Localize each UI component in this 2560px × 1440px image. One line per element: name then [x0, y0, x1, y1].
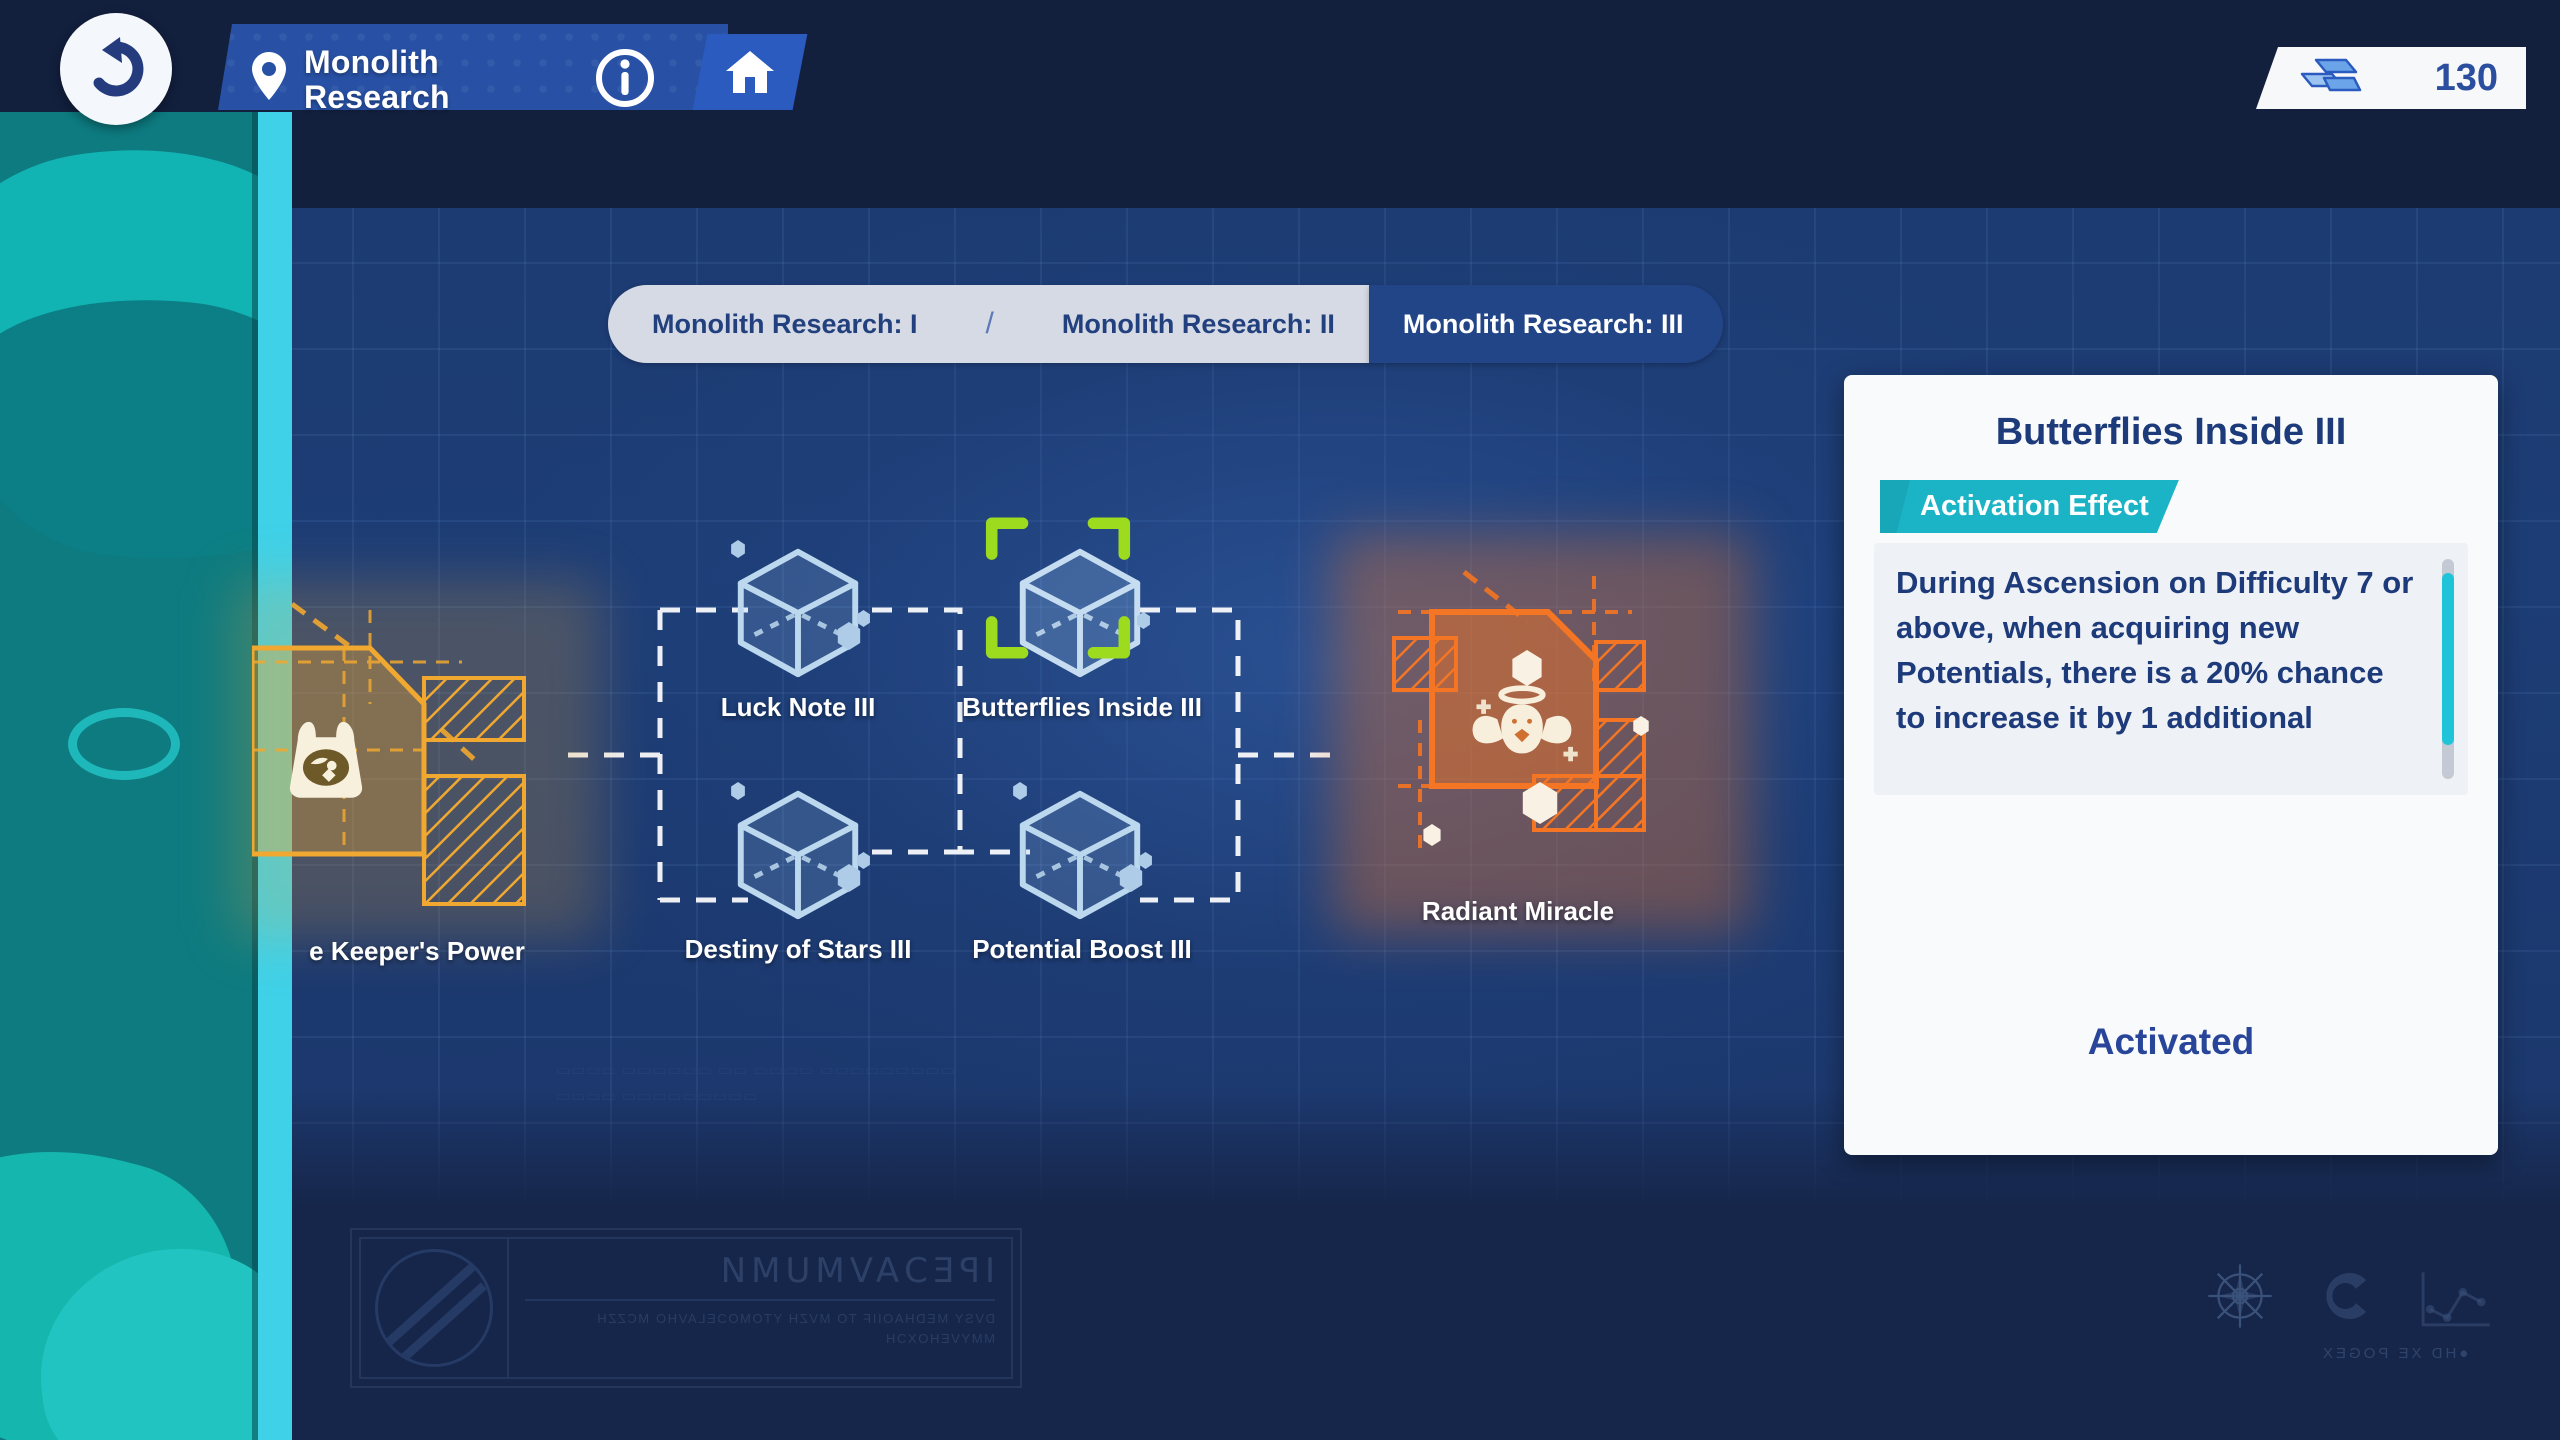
cube-icon: [724, 536, 872, 684]
cube-icon: [1006, 778, 1154, 926]
node-label-keepers-power: e Keeper's Power: [309, 936, 525, 967]
node-label-radiant-miracle: Radiant Miracle: [1422, 896, 1614, 927]
back-button[interactable]: [60, 13, 172, 125]
map-pin-icon: [252, 52, 286, 100]
ingot-bars-icon: [2300, 56, 2362, 100]
node-label-destiny-of-stars-3: Destiny of Stars III: [685, 934, 912, 965]
info-circle-icon[interactable]: [594, 47, 656, 109]
tab-monolith-research-1[interactable]: Monolith Research: I: [618, 285, 952, 363]
node-label-butterflies-inside-3: Butterflies Inside III: [962, 692, 1202, 723]
node-potential-boost-3[interactable]: Potential Boost III: [1006, 778, 1154, 926]
winged-angel-icon: [1464, 674, 1580, 778]
page-title-line2: Research: [304, 80, 450, 115]
node-destiny-of-stars-3[interactable]: Destiny of Stars III: [724, 778, 872, 926]
tab-group-inactive: Monolith Research: I / Monolith Research…: [608, 285, 1369, 363]
page-title-line1: Monolith: [304, 45, 450, 80]
back-arrow-icon: [80, 33, 152, 105]
cube-icon: [1006, 536, 1154, 684]
satchel-bag-icon: [278, 708, 374, 804]
status-badge: Activated: [1844, 1021, 2498, 1063]
node-radiant-miracle[interactable]: Radiant Miracle: [1360, 558, 1720, 898]
tab-bar: Monolith Research: I / Monolith Research…: [608, 285, 1723, 363]
tab-monolith-research-2[interactable]: Monolith Research: II: [1028, 285, 1369, 363]
node-label-potential-boost-3: Potential Boost III: [972, 934, 1192, 965]
node-label-luck-note-3: Luck Note III: [721, 692, 876, 723]
page-title: Monolith Research: [304, 45, 450, 114]
detail-panel-body: During Ascension on Difficulty 7 or abov…: [1874, 543, 2468, 795]
app-stage: ▭▭▭▭ ▭▭▭▭▭▭ ▭▭ ▭▭▭▭ ▭▭▭▭▭▭▭▭▭▭▭▭▭ ▭▭▭▭▭▭…: [0, 0, 2560, 1440]
detail-description: During Ascension on Difficulty 7 or abov…: [1896, 561, 2416, 741]
top-header-bar: Monolith Research: [0, 0, 2560, 112]
detail-panel: Butterflies Inside III Activation Effect…: [1844, 375, 2498, 1155]
activation-effect-badge: Activation Effect: [1880, 480, 2179, 533]
detail-scrollbar-thumb[interactable]: [2442, 573, 2454, 745]
detail-scrollbar-track[interactable]: [2442, 559, 2454, 779]
home-button[interactable]: [693, 34, 808, 110]
cube-icon: [724, 778, 872, 926]
currency-badge[interactable]: 130: [2256, 47, 2526, 109]
home-icon: [725, 49, 775, 95]
tab-monolith-research-3[interactable]: Monolith Research: III: [1369, 285, 1724, 363]
tab-separator: /: [952, 285, 1028, 363]
currency-amount: 130: [2435, 57, 2498, 100]
node-luck-note-3[interactable]: Luck Note III: [724, 536, 872, 684]
node-butterflies-inside-3[interactable]: Butterflies Inside III: [1006, 536, 1154, 684]
node-keepers-power[interactable]: e Keeper's Power: [252, 600, 582, 920]
detail-panel-title: Butterflies Inside III: [1874, 411, 2468, 454]
